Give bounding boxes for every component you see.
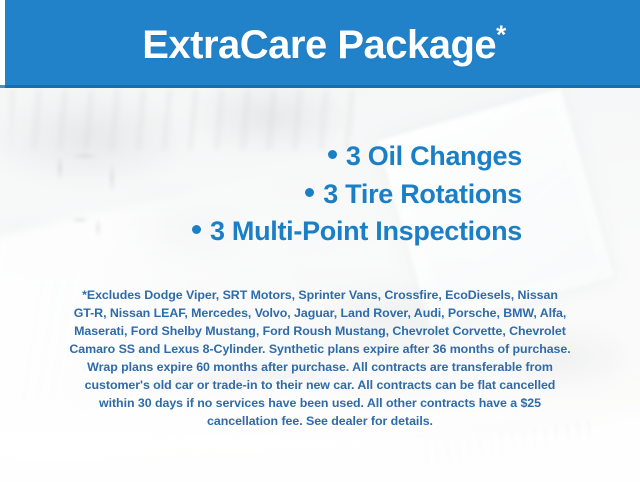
page-title: ExtraCare Package*	[142, 25, 506, 65]
disclaimer-line: Maserati, Ford Shelby Mustang, Ford Rous…	[22, 322, 618, 340]
benefit-item-oil-changes: 3 Oil Changes	[0, 138, 522, 176]
header-banner: ExtraCare Package*	[0, 0, 640, 88]
benefits-list: 3 Oil Changes 3 Tire Rotations 3 Multi-P…	[0, 138, 640, 251]
benefit-label: 3 Oil Changes	[346, 141, 522, 171]
bullet-dot-icon	[192, 225, 201, 234]
benefit-label: 3 Tire Rotations	[323, 179, 522, 209]
disclaimer-line: cancellation fee. See dealer for details…	[22, 412, 618, 430]
page-title-text: ExtraCare Package	[142, 23, 496, 67]
disclaimer-line: Wrap plans expire 60 months after purcha…	[22, 358, 618, 376]
bullet-dot-icon	[305, 188, 314, 197]
disclaimer-text: *Excludes Dodge Viper, SRT Motors, Sprin…	[22, 286, 618, 430]
disclaimer-line: Camaro SS and Lexus 8-Cylinder. Syntheti…	[22, 340, 618, 358]
disclaimer-line: GT-R, Nissan LEAF, Mercedes, Volvo, Jagu…	[22, 304, 618, 322]
benefit-label: 3 Multi-Point Inspections	[210, 216, 522, 246]
benefit-item-tire-rotations: 3 Tire Rotations	[0, 176, 522, 214]
extracare-package-ad: ExtraCare Package* 3 Oil Changes 3 Tire …	[0, 0, 640, 482]
disclaimer-line: *Excludes Dodge Viper, SRT Motors, Sprin…	[22, 286, 618, 304]
disclaimer-line: within 30 days if no services have been …	[22, 394, 618, 412]
banner-left-margin	[0, 0, 5, 88]
bullet-dot-icon	[328, 150, 337, 159]
disclaimer-line: customer's old car or trade-in to their …	[22, 376, 618, 394]
page-title-asterisk: *	[496, 20, 506, 50]
benefit-item-multi-point-inspections: 3 Multi-Point Inspections	[0, 213, 522, 251]
banner-underline	[0, 85, 640, 88]
